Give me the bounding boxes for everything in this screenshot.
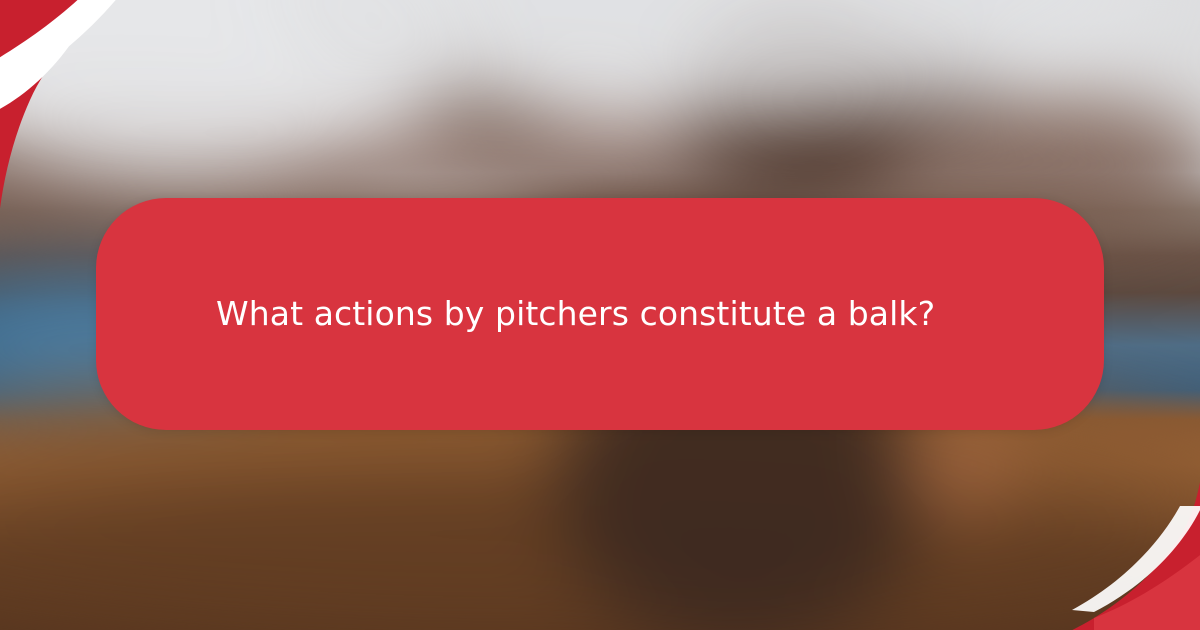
social-card-image: What actions by pitchers constitute a ba… [0, 0, 1200, 630]
question-text: What actions by pitchers constitute a ba… [96, 293, 1055, 334]
question-card: What actions by pitchers constitute a ba… [96, 198, 1104, 430]
